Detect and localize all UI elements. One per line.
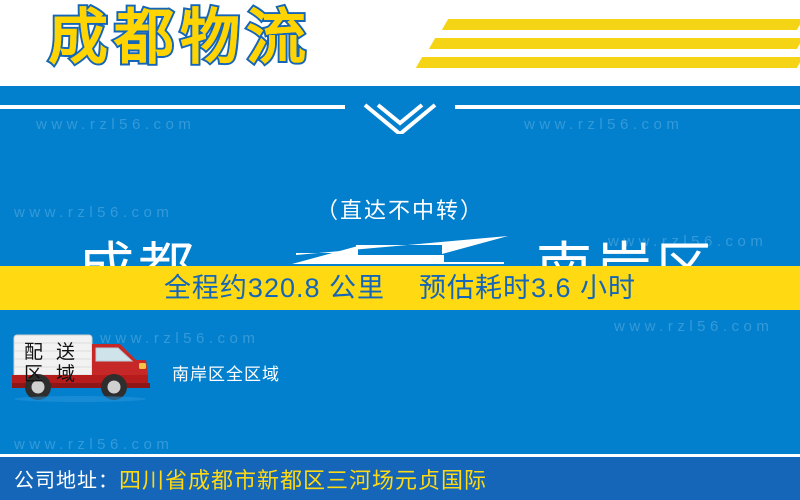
- logistics-banner: 成都物流 成都物流 www.rzl56.com www.rzl56.com ww…: [0, 0, 800, 500]
- header-zone: 成都物流 成都物流: [0, 0, 800, 86]
- svg-text:配: 配: [24, 342, 43, 363]
- delivery-truck-icon: 配 送 区 域: [8, 330, 153, 402]
- address-value: 四川省成都市新都区三河场元贞国际: [119, 463, 487, 495]
- watermark-bottom-left: www.rzl56.com: [14, 436, 173, 453]
- duration-text: 预估耗时3.6 小时: [419, 271, 636, 305]
- chevron-down-icon: [345, 92, 455, 134]
- watermark-left-top: www.rzl56.com: [36, 116, 195, 133]
- decorative-stripes: [380, 0, 800, 86]
- main-blue-panel: www.rzl56.com www.rzl56.com www.rzl56.co…: [0, 86, 800, 500]
- stripe-3: [416, 57, 800, 68]
- route-section: 成都 南岸区 （直达不中转） 【往返运输】: [0, 141, 800, 271]
- direct-note: （直达不中转）: [275, 196, 525, 226]
- address-label: 公司地址：: [14, 464, 119, 493]
- page-title: 成都物流: [48, 1, 312, 75]
- stripe-1: [442, 19, 800, 30]
- distance-text: 全程约320.8 公里: [164, 271, 385, 305]
- info-bar: 全程约320.8 公里 预估耗时3.6 小时: [0, 266, 800, 310]
- svg-text:域: 域: [56, 363, 75, 385]
- stripe-2: [429, 38, 800, 49]
- address-bar: 公司地址： 四川省成都市新都区三河场元贞国际: [0, 457, 800, 500]
- watermark-right-top: www.rzl56.com: [524, 116, 683, 133]
- svg-text:区: 区: [24, 364, 43, 385]
- delivery-area-text: 南岸区全区域: [172, 360, 280, 385]
- svg-text:送: 送: [56, 341, 75, 363]
- delivery-section: 配 送 区 域 南岸区全区域: [0, 330, 800, 400]
